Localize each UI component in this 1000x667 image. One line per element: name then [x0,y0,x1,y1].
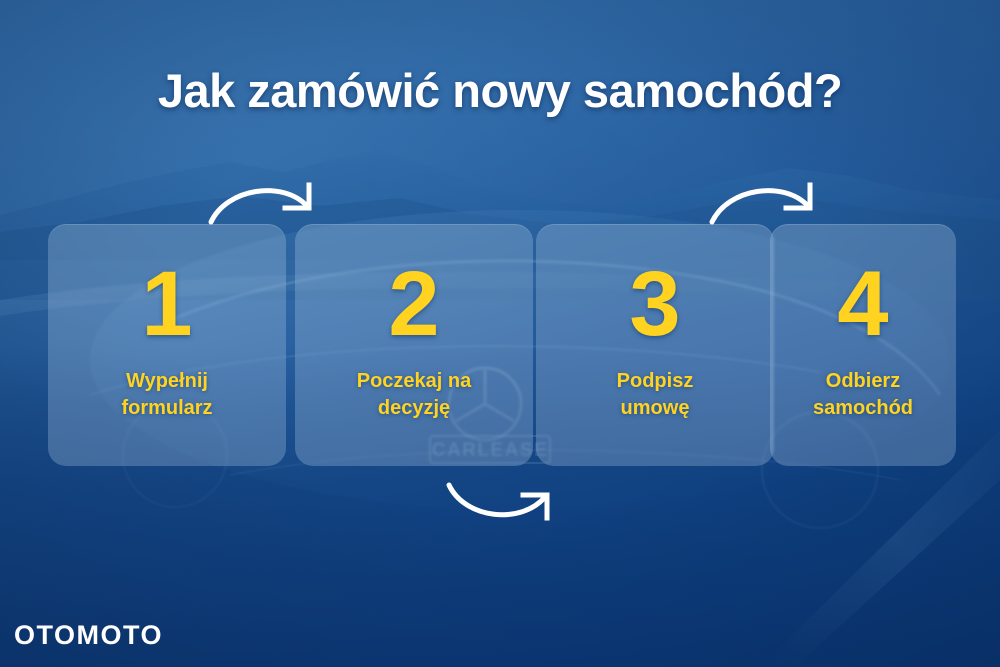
otomoto-logo[interactable]: OTOMOTO [14,620,163,651]
step-label-2: Poczekaj na decyzję [295,368,533,422]
step-label-1: Wypełnij formularz [48,368,286,422]
step-number-2: 2 [295,258,533,350]
step-card-2[interactable]: 2 Poczekaj na decyzję [295,224,533,466]
step-label-3: Podpisz umowę [536,368,774,422]
step-number-1: 1 [48,258,286,350]
step-label-1-line1: Wypełnij [126,370,208,392]
step-label-4-line2: samochód [813,397,913,419]
arrow-step-2-to-3-icon [443,473,563,525]
step-card-1[interactable]: 1 Wypełnij formularz [48,224,286,466]
arrow-step-3-to-4-icon [706,178,826,230]
step-label-1-line2: formularz [121,397,212,419]
step-label-4-line1: Odbierz [826,370,900,392]
step-label-2-line1: Poczekaj na [357,370,472,392]
step-number-4: 4 [770,258,956,350]
step-label-2-line2: decyzję [378,397,450,419]
step-label-3-line2: umowę [621,397,690,419]
step-label-4: Odbierz samochód [770,368,956,422]
step-card-3[interactable]: 3 Podpisz umowę [536,224,774,466]
step-label-3-line1: Podpisz [617,370,694,392]
page-title: Jak zamówić nowy samochód? [0,63,1000,118]
step-number-3: 3 [536,258,774,350]
arrow-step-1-to-2-icon [205,178,325,230]
infographic-canvas: CARLEASE Jak zamówić nowy samochód? 1 Wy… [0,0,1000,667]
step-card-4[interactable]: 4 Odbierz samochód [770,224,956,466]
